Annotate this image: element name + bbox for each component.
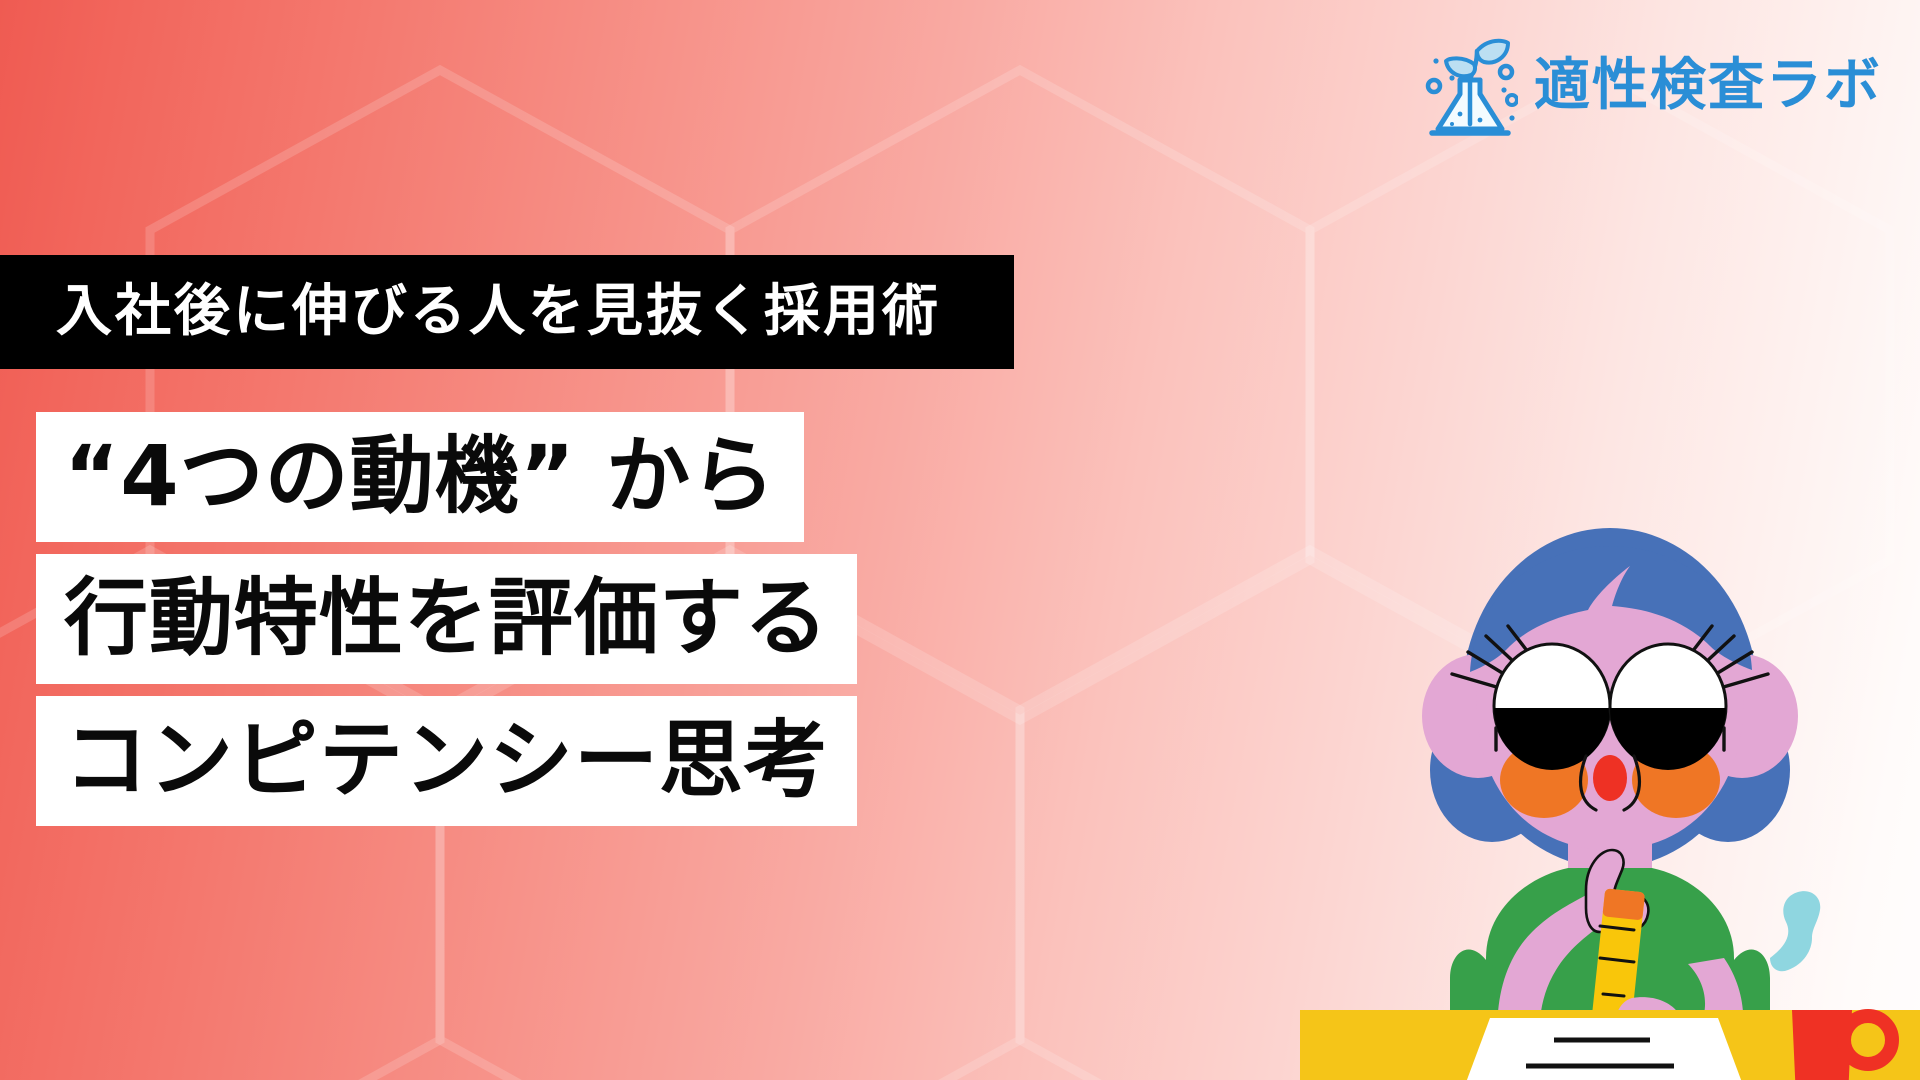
banner-canvas: 適性検査ラボ 入社後に伸びる人を見抜く採用術 “4つの動機” から 行動特性を評…	[0, 0, 1920, 1080]
character-illustration	[1300, 398, 1920, 1080]
site-logo[interactable]: 適性検査ラボ	[1422, 34, 1882, 138]
paper	[1452, 1018, 1756, 1080]
headline-line-3: コンピテンシー思考	[36, 696, 857, 826]
headline-line-2: 行動特性を評価する	[36, 554, 857, 684]
eyebrow-text: 入社後に伸びる人を見抜く採用術	[56, 284, 941, 340]
eyebrow-banner: 入社後に伸びる人を見抜く採用術	[0, 255, 1014, 369]
headline-line-1: “4つの動機” から	[36, 412, 804, 542]
eye-left	[1494, 644, 1610, 770]
headline-block: “4つの動機” から 行動特性を評価する コンピテンシー思考	[36, 412, 857, 826]
flask-with-sprout-icon	[1422, 34, 1518, 138]
logo-text: 適性検査ラボ	[1534, 58, 1882, 114]
nose	[1593, 755, 1627, 801]
steam	[1770, 891, 1820, 971]
eye-right	[1610, 644, 1726, 770]
